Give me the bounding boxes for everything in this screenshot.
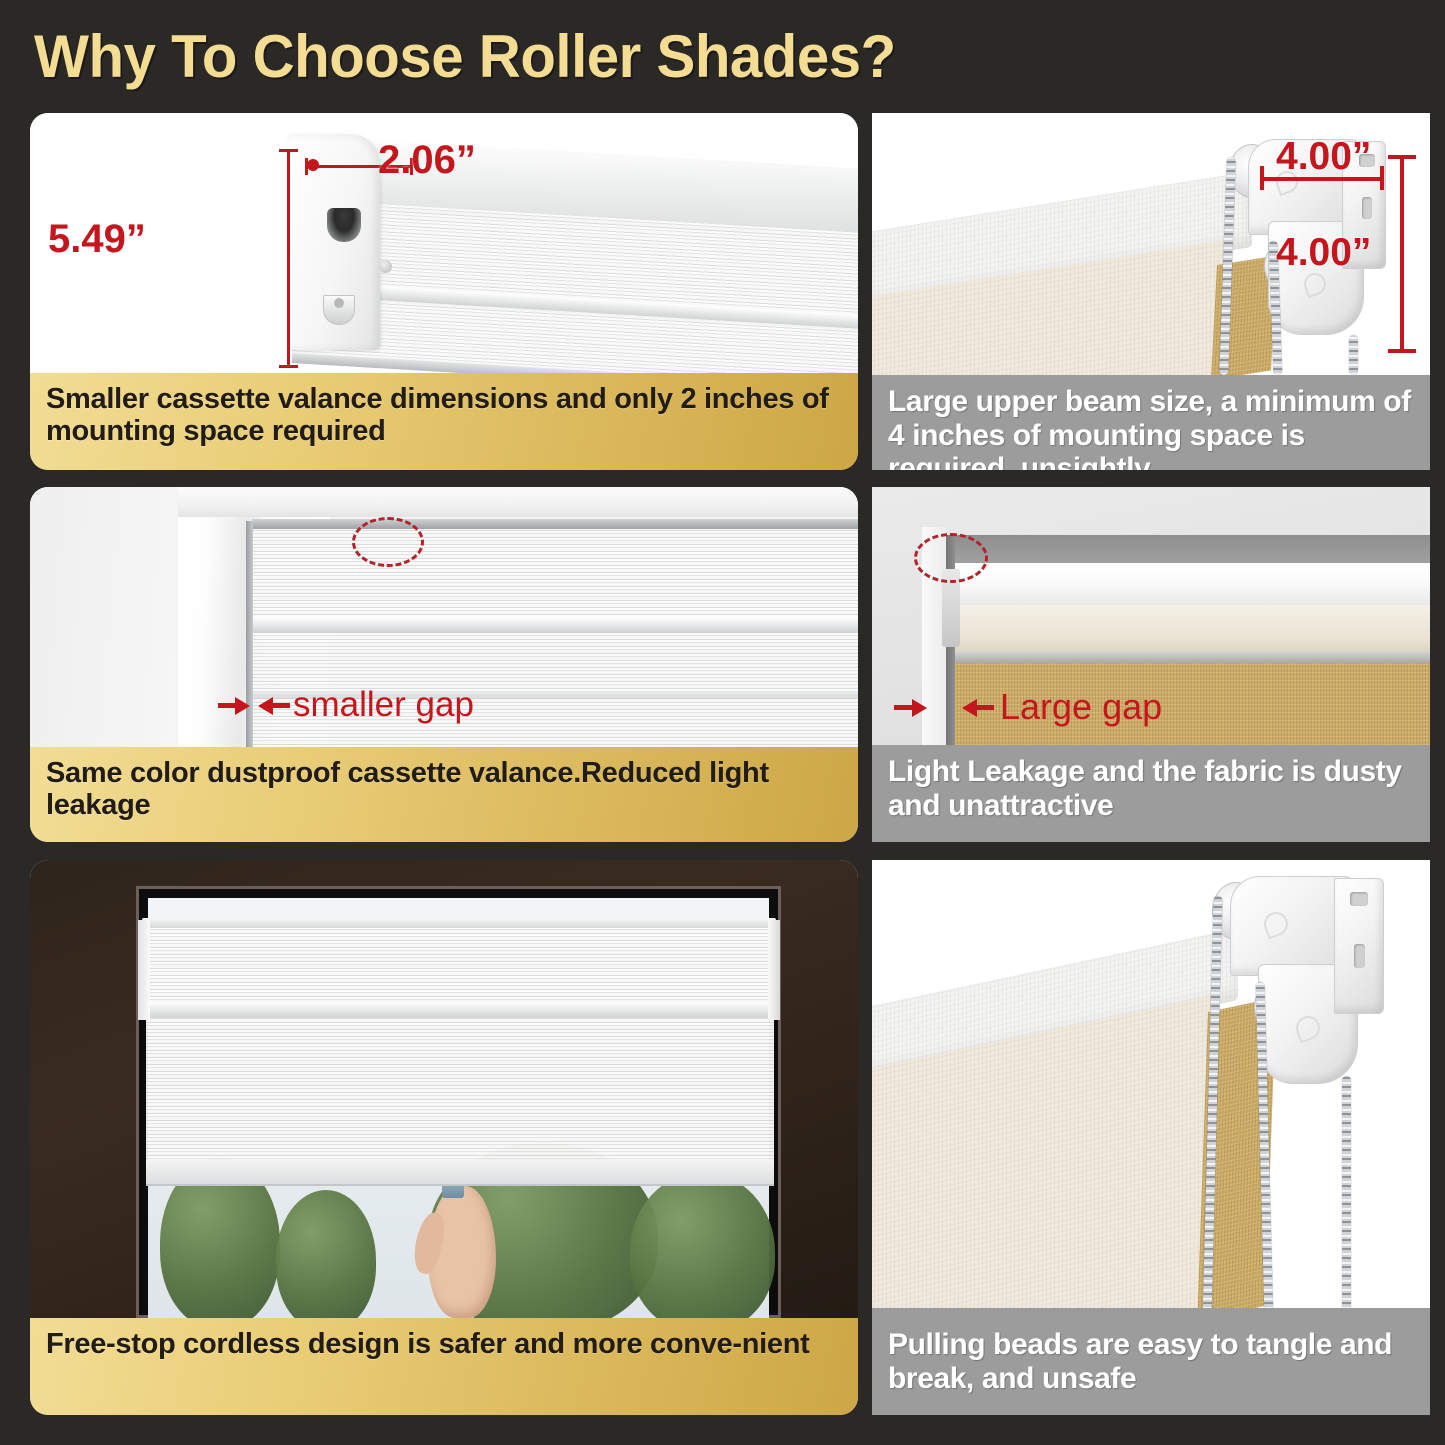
gap-arrow-left-stem <box>894 705 913 710</box>
caption-top-left: Smaller cassette valance dimensions and … <box>30 373 858 470</box>
panel-bottom-left: Free-stop cordless design is safer and m… <box>30 860 858 1415</box>
caption-mid-right: Light Leakage and the fabric is dusty an… <box>872 745 1430 842</box>
gap-arrow-right-stem <box>976 705 994 710</box>
dim-5-49-tick-top <box>279 149 298 152</box>
head-rail-fabric-roll <box>950 605 1430 653</box>
tree-far-right <box>630 1172 775 1318</box>
photo-light-leak: Large gap <box>872 487 1430 745</box>
gap-arrow-right-stem <box>272 703 290 708</box>
photo-cassette-valance: 2.06” 5.49” <box>30 113 858 373</box>
window-casing-top <box>178 487 858 517</box>
dimension-label-height: 5.49” <box>48 217 146 262</box>
caption-top-right: Large upper beam size, a minimum of 4 in… <box>872 375 1430 470</box>
photo-large-bracket: 4.00” 4.00” <box>872 113 1430 375</box>
bracket-slot-mid <box>1354 944 1365 968</box>
photo-bead-chain-shade <box>872 860 1430 1318</box>
gap-arrow-left-stem <box>218 703 237 708</box>
infographic-root: Why To Choose Roller Shades? 2. <box>0 0 1445 1445</box>
bead-chain-right[interactable] <box>1342 1076 1351 1318</box>
dim-width-tick-left <box>1260 166 1264 190</box>
valance-divider <box>252 617 858 633</box>
dim-height-line <box>1400 155 1404 353</box>
valance-upper-panel <box>252 529 858 617</box>
bead-chain-right[interactable] <box>1349 335 1358 375</box>
end-cap-screw <box>334 298 344 308</box>
head-rail-bottom-edge <box>950 651 1430 663</box>
photo-room-window <box>30 860 858 1318</box>
dimension-label-beam-width: 4.00” <box>1276 135 1371 179</box>
highlight-ellipse-icon <box>352 517 424 567</box>
caption-mid-left: Same color dustproof cassette valance.Re… <box>30 747 858 842</box>
photo-cassette-in-window: smaller gap <box>30 487 858 747</box>
dim-2-06-dot <box>307 159 319 171</box>
panel-mid-right: Large gap Light Leakage and the fabric i… <box>872 487 1430 842</box>
end-cap-screw-mid <box>379 260 392 273</box>
gap-label-smaller: smaller gap <box>293 685 474 725</box>
dim-5-49-tick-bottom <box>279 365 298 368</box>
caption-bottom-left: Free-stop cordless design is safer and m… <box>30 1318 858 1415</box>
gap-arrow-left-icon <box>912 699 927 717</box>
panel-top-right: 4.00” 4.00” Large upper beam size, a min… <box>872 113 1430 470</box>
panel-top-left: 2.06” 5.49” Smaller cassette valance dim… <box>30 113 858 470</box>
bracket-slot-top <box>1350 892 1368 906</box>
window-shade-bottom-rail <box>146 1160 774 1186</box>
end-cap-port <box>327 208 361 242</box>
panel-bottom-right: Pulling beads are easy to tangle and bre… <box>872 860 1430 1415</box>
dim-5-49-line <box>287 149 290 368</box>
floor-shadow <box>872 1308 1430 1318</box>
window-valance-face <box>142 928 776 1006</box>
gap-arrow-right-icon <box>258 697 273 715</box>
gap-arrow-left-icon <box>235 697 250 715</box>
panel-mid-left: smaller gap Same color dustproof cassett… <box>30 487 858 842</box>
dimension-label-width: 2.06” <box>378 138 476 183</box>
bracket-slot-mid <box>1362 197 1372 219</box>
dim-height-tick-bottom <box>1388 349 1416 353</box>
tree-mid <box>276 1190 376 1318</box>
valance-left-return <box>138 920 150 1020</box>
gap-label-large: Large gap <box>1000 686 1162 728</box>
head-rail <box>950 563 1430 609</box>
dim-height-tick-top <box>1388 155 1416 159</box>
page-title: Why To Choose Roller Shades? <box>34 22 1004 92</box>
highlight-ellipse-icon <box>914 533 988 583</box>
valance-right-return <box>768 920 780 1020</box>
dim-width-tick-right <box>1380 166 1384 190</box>
valance-top-rail <box>252 519 858 529</box>
gap-arrow-right-icon <box>962 699 977 717</box>
dimension-label-beam-height: 4.00” <box>1276 231 1371 275</box>
caption-bottom-right: Pulling beads are easy to tangle and bre… <box>872 1318 1430 1415</box>
